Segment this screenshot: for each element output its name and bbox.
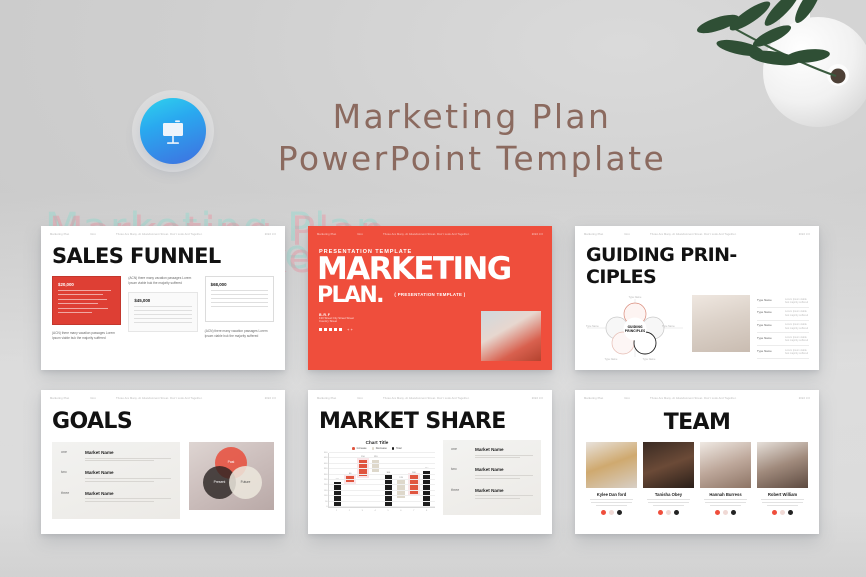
chart-bar: 150 — [359, 453, 367, 507]
legend-item: Decrease — [372, 447, 387, 450]
svg-text:Type Name: Type Name — [662, 325, 675, 328]
slide-header-mid: Intro — [90, 397, 110, 401]
funnel-blurb-1: (ACN) there many vacation passages Lorem… — [52, 331, 121, 340]
gp-row: Type NameLorem Ipsum viable buk majority… — [757, 333, 809, 346]
list-item: two Market Name — [61, 470, 171, 483]
slide-header: Marketing Plan Intro Those Are Many. At … — [308, 390, 552, 407]
twitter-icon[interactable] — [731, 510, 736, 515]
slide-header-left: Marketing Plan — [584, 397, 618, 401]
gp-row: Type NameLorem Ipsum viable buk majority… — [757, 308, 809, 321]
legend-label: Decrease — [376, 447, 387, 450]
svg-text:Type Name: Type Name — [586, 325, 599, 328]
slide-title: SALES FUNNEL — [52, 246, 285, 267]
legend-item: Total — [392, 447, 402, 450]
chart-y-tick: 250 — [324, 479, 328, 481]
gp-row-key: Type Name — [757, 349, 781, 356]
funnel-col-2: (ACN) there many vacation passages Lorem… — [128, 276, 197, 340]
slide-title: TEAM — [575, 412, 819, 434]
slide-header-body: Those Are Many. At Abandonment Street. D… — [116, 397, 248, 401]
team-member-card: Kylee Dan ford — [586, 442, 637, 515]
chart-y-tick: 50 — [325, 501, 327, 503]
chart-y-tick: 500 — [324, 452, 328, 454]
gp-row-value: Lorem Ipsum viable buk majority suffered — [785, 298, 809, 305]
facebook-icon[interactable] — [658, 510, 663, 515]
team-grid: Kylee Dan ford Tanisha Obey — [575, 434, 819, 515]
social-links[interactable] — [757, 510, 808, 515]
social-links[interactable] — [700, 510, 751, 515]
cover-subtitle: ( PRESENTATION TEMPLATE ) — [394, 292, 465, 297]
chart-x-axis: 12345678 — [328, 508, 435, 512]
cover-title-line-2: PLAN. — [317, 283, 383, 308]
chart-title: Chart Title — [319, 440, 435, 445]
team-member-name: Kylee Dan ford — [586, 492, 637, 497]
chart-gridline: 350 — [329, 468, 435, 469]
venn-label-past: Past — [215, 460, 247, 464]
goal-name: Market Name — [85, 470, 171, 475]
facebook-icon[interactable] — [772, 510, 777, 515]
goal-number: two — [61, 470, 77, 483]
goal-name: Market Name — [85, 491, 171, 496]
chart-gridline: 250 — [329, 479, 435, 480]
gp-row-value: Lorem Ipsum viable buk majority suffered — [785, 336, 809, 343]
slide-preview-market-share[interactable]: Marketing Plan Intro Those Are Many. At … — [308, 390, 552, 534]
chart-gridline: 0 — [329, 506, 435, 507]
slide-header-right: 2022 3.0 — [521, 397, 543, 401]
goal-number: three — [61, 491, 77, 504]
list-item: three Market Name — [451, 488, 533, 501]
item-number: three — [451, 488, 467, 501]
slide-header-body: Those Are Many. At Abandonment Street. D… — [116, 233, 248, 237]
slide-preview-goals[interactable]: Marketing Plan Intro Those Are Many. At … — [41, 390, 285, 534]
goals-body: one Market Name two Market Name three — [41, 433, 285, 519]
svg-text:PRINCIPLES: PRINCIPLES — [625, 329, 645, 333]
instagram-icon[interactable] — [609, 510, 614, 515]
chart-gridline: 50 — [329, 501, 435, 502]
slide-header-body: Those Are Many. At Abandonment Street. D… — [383, 397, 515, 401]
chart-x-tick: 4 — [371, 510, 379, 512]
market-share-list: one Market Name two Market Name three — [443, 440, 541, 515]
team-member-card: Robert William — [757, 442, 808, 515]
slide-title: MARKET SHARE — [319, 411, 552, 433]
legend-label: Increase — [357, 447, 367, 450]
twitter-icon[interactable] — [617, 510, 622, 515]
chart-plot-area: 23060150120300170180330 0501001502002503… — [328, 453, 435, 508]
guiding-principles-rows: Type NameLorem Ipsum viable buk majority… — [757, 295, 809, 361]
twitter-icon[interactable] — [788, 510, 793, 515]
team-member-name: Tanisha Obey — [643, 492, 694, 497]
gp-row-value: Lorem Ipsum viable buk majority suffered — [785, 323, 809, 330]
svg-text:Type Name: Type Name — [629, 296, 642, 299]
slide-header: Marketing Plan Intro Those Are Many. At … — [41, 390, 285, 407]
funnel-col-1: $20,000 (ACN) there many vacation passag… — [52, 276, 121, 340]
chart-legend: Increase Decrease Total — [319, 447, 435, 450]
funnel-amount-2: $45,000 — [134, 298, 191, 303]
avatar — [586, 442, 637, 488]
slide-header-mid: Intro — [90, 233, 110, 237]
legend-item: Increase — [352, 447, 366, 450]
item-name: Market Name — [475, 447, 533, 452]
slide-header-right: 2022 3.0 — [254, 397, 276, 401]
team-member-name: Robert William — [757, 492, 808, 497]
chart-bar: 300 — [385, 453, 393, 507]
chart-bars: 23060150120300170180330 — [329, 453, 435, 507]
chart-y-tick: 100 — [324, 495, 328, 497]
slide-header-right: 2022 3.0 — [521, 233, 543, 237]
waterfall-chart: Chart Title Increase Decrease Total 2306… — [319, 440, 435, 515]
gp-row-value: Lorem Ipsum viable buk majority suffered — [785, 349, 809, 356]
slide-title: GOALS — [52, 411, 285, 433]
chart-gridline: 150 — [329, 490, 435, 491]
slide-header: Marketing Plan Intro Those Are Many. At … — [41, 226, 285, 243]
chart-y-tick: 200 — [324, 484, 328, 486]
chart-x-tick: 2 — [346, 510, 354, 512]
slide-header-right: 2022 3.0 — [788, 233, 810, 237]
goal-number: one — [61, 450, 77, 463]
social-links[interactable] — [643, 510, 694, 515]
slide-previews: Marketing Plan Intro Those Are Many. At … — [0, 0, 866, 577]
avatar — [757, 442, 808, 488]
social-links[interactable] — [586, 510, 637, 515]
chart-bar: 180 — [410, 453, 418, 507]
cover-title-line-1: MARKETING — [317, 255, 552, 284]
gp-row: Type NameLorem Ipsum viable buk majority… — [757, 295, 809, 308]
guiding-principles-body: GUIDING PRINCIPLES Type Name Type Name T… — [575, 287, 819, 361]
funnel-blurb-3: (ACN) there many vacation passages Lorem… — [205, 329, 274, 338]
chart-y-tick: 350 — [324, 468, 328, 470]
list-item: two Market Name — [451, 467, 533, 480]
list-item: one Market Name — [61, 450, 171, 463]
chart-y-tick: 450 — [324, 457, 328, 459]
slide-header-mid: Intro — [624, 397, 644, 401]
guiding-principles-photo — [692, 295, 750, 352]
slide-preview-marketing-plan-cover[interactable]: Marketing Plan Intro Those Are Many. At … — [308, 226, 552, 370]
avatar — [643, 442, 694, 488]
slide-title-line-2: CIPLES — [586, 268, 819, 287]
goal-name: Market Name — [85, 450, 171, 455]
chart-gridline: 500 — [329, 452, 435, 453]
slide-title-line-1: GUIDING PRIN- — [586, 246, 819, 265]
instagram-icon[interactable] — [780, 510, 785, 515]
chart-x-tick: 8 — [423, 510, 431, 512]
gp-row-key: Type Name — [757, 310, 781, 317]
chart-bar: 230 — [334, 453, 342, 507]
facebook-icon[interactable] — [715, 510, 720, 515]
slide-preview-sales-funnel[interactable]: Marketing Plan Intro Those Are Many. At … — [41, 226, 285, 370]
slide-header: Marketing Plan Intro Those Are Many. At … — [575, 226, 819, 243]
chart-x-tick: 5 — [384, 510, 392, 512]
market-share-body: Chart Title Increase Decrease Total 2306… — [308, 433, 552, 515]
chart-gridline: 200 — [329, 484, 435, 485]
gp-row-value: Lorem Ipsum viable buk majority suffered — [785, 310, 809, 317]
funnel-card-light: $45,000 — [128, 292, 197, 332]
chart-bar: 60 — [346, 453, 354, 507]
instagram-icon[interactable] — [666, 510, 671, 515]
slide-header-body: Those Are Many. At Abandonment Street. D… — [383, 233, 515, 237]
gp-row: Type NameLorem Ipsum viable buk majority… — [757, 321, 809, 334]
slide-header-mid: Intro — [357, 397, 377, 401]
goals-list: one Market Name two Market Name three — [52, 442, 180, 519]
item-name: Market Name — [475, 488, 533, 493]
slide-header-mid: Intro — [357, 233, 377, 237]
slide-preview-team[interactable]: Marketing Plan Intro Those Are Many. At … — [575, 390, 819, 534]
team-member-card: Tanisha Obey — [643, 442, 694, 515]
twitter-icon[interactable] — [674, 510, 679, 515]
funnel-amount-3: $68,000 — [211, 282, 268, 287]
funnel-card-white: $68,000 — [205, 276, 274, 322]
chart-y-tick: 150 — [324, 490, 328, 492]
venn-label-future: Future — [229, 480, 262, 484]
chart-gridline: 300 — [329, 474, 435, 475]
list-item: three Market Name — [61, 491, 171, 504]
chart-x-tick: 6 — [397, 510, 405, 512]
funnel-blurb-2: (ACN) there many vacation passages Lorem… — [128, 276, 197, 285]
funnel-columns: $20,000 (ACN) there many vacation passag… — [41, 267, 285, 340]
slide-header-right: 2022 3.0 — [254, 233, 276, 237]
slide-header-body: Those Are Many. At Abandonment Street. D… — [650, 397, 782, 401]
chart-x-tick: 3 — [358, 510, 366, 512]
list-item: one Market Name — [451, 447, 533, 460]
chart-bar: 330 — [423, 453, 431, 507]
gp-row-key: Type Name — [757, 298, 781, 305]
chart-gridline: 400 — [329, 463, 435, 464]
funnel-col-3: $68,000 (ACN) there many vacation passag… — [205, 276, 274, 340]
chart-y-tick: 300 — [324, 474, 328, 476]
chart-x-tick: 1 — [333, 510, 341, 512]
slide-header-left: Marketing Plan — [584, 233, 618, 237]
slide-header-right: 2022 3.0 — [788, 397, 810, 401]
item-name: Market Name — [475, 467, 533, 472]
venn-circle-future: Future — [229, 466, 262, 499]
chart-y-tick: 0 — [326, 506, 327, 508]
team-member-name: Hannah Burress — [700, 492, 751, 497]
slide-header: Marketing Plan Intro Those Are Many. At … — [308, 226, 552, 243]
gp-row-key: Type Name — [757, 336, 781, 343]
chart-bar: 120 — [372, 453, 380, 507]
slide-header-left: Marketing Plan — [50, 397, 84, 401]
slide-header-left: Marketing Plan — [317, 397, 351, 401]
item-number: one — [451, 447, 467, 460]
team-member-card: Hannah Burress — [700, 442, 751, 515]
cover-photo — [481, 311, 541, 361]
slide-header-body: Those Are Many. At Abandonment Street. D… — [650, 233, 782, 237]
funnel-card-red: $20,000 — [52, 276, 121, 325]
chart-bar-segment — [372, 460, 380, 473]
instagram-icon[interactable] — [723, 510, 728, 515]
facebook-icon[interactable] — [601, 510, 606, 515]
legend-label: Total — [396, 447, 401, 450]
slide-header-left: Marketing Plan — [50, 233, 84, 237]
gp-row: Type NameLorem Ipsum viable buk majority… — [757, 346, 809, 359]
svg-text:Type Name: Type Name — [605, 358, 618, 361]
slide-header: Marketing Plan Intro Those Are Many. At … — [575, 390, 819, 407]
slide-header-left: Marketing Plan — [317, 233, 351, 237]
item-number: two — [451, 467, 467, 480]
slide-header-mid: Intro — [624, 233, 644, 237]
goals-venn-image: Past Present Future — [189, 442, 274, 510]
funnel-amount-1: $20,000 — [58, 282, 115, 287]
chart-gridline: 450 — [329, 457, 435, 458]
svg-text:Type Name: Type Name — [643, 358, 656, 361]
petal-diagram: GUIDING PRINCIPLES Type Name Type Name T… — [585, 295, 685, 361]
slide-preview-guiding-principles[interactable]: Marketing Plan Intro Those Are Many. At … — [575, 226, 819, 370]
chart-y-tick: 400 — [324, 463, 328, 465]
chart-x-tick: 7 — [410, 510, 418, 512]
gp-row-key: Type Name — [757, 323, 781, 330]
chart-gridline: 100 — [329, 495, 435, 496]
avatar — [700, 442, 751, 488]
chart-bar: 170 — [397, 453, 405, 507]
